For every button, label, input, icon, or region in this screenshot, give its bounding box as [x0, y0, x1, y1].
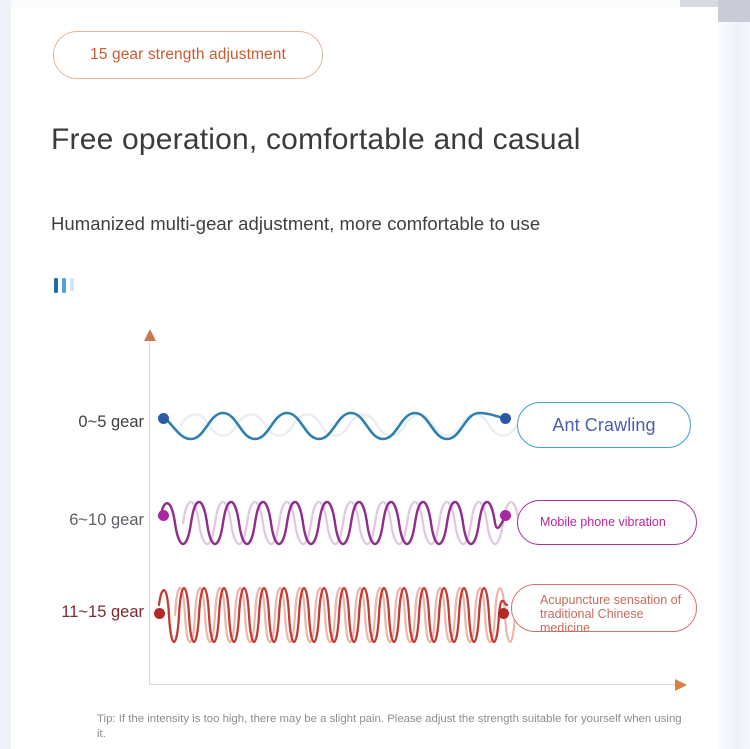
waveform-mid-gear	[157, 487, 517, 559]
chart-row-mid-gear: 6~10 gear Mobile phone vibration	[11, 487, 718, 559]
legend-bubble-mobile-vibration[interactable]: Mobile phone vibration	[517, 500, 697, 545]
tip-text: Tip: If the intensity is too high, there…	[97, 712, 685, 741]
waveform-low-gear-start-dot	[158, 413, 169, 424]
waveform-high-gear	[157, 572, 517, 658]
page-top-margin-band	[11, 0, 718, 7]
chart-row-high-gear: 11~15 gear Acupuncture sensation of trad…	[11, 572, 718, 658]
chart-row-low-gear: 0~5 gear Ant Crawling	[11, 394, 718, 456]
signal-bars-icon	[54, 278, 74, 293]
gear-strength-badge-label: 15 gear strength adjustment	[90, 46, 286, 64]
gear-strength-badge[interactable]: 15 gear strength adjustment	[53, 31, 323, 79]
page-left-margin-band	[0, 0, 11, 749]
waveform-mid-gear-end-dot	[500, 510, 511, 521]
legend-bubble-acupuncture-label: Acupuncture sensation of traditional Chi…	[540, 593, 696, 635]
waveform-mid-gear-start-dot	[158, 510, 169, 521]
waveform-low-gear	[157, 394, 517, 456]
row-label-high-gear: 11~15 gear	[61, 603, 144, 622]
page-right-margin-band	[718, 0, 750, 749]
slide-content: 15 gear strength adjustment Free operati…	[11, 7, 718, 749]
waveform-high-gear-end-dot	[498, 608, 509, 619]
page-title: Free operation, comfortable and casual	[51, 123, 581, 157]
row-label-mid-gear: 6~10 gear	[69, 511, 144, 530]
legend-bubble-mobile-vibration-label: Mobile phone vibration	[540, 516, 666, 530]
legend-bubble-ant-crawling[interactable]: Ant Crawling	[517, 402, 691, 448]
waveform-high-gear-start-dot	[154, 608, 165, 619]
page-top-right-notch-dark	[718, 0, 750, 22]
legend-bubble-acupuncture[interactable]: Acupuncture sensation of traditional Chi…	[511, 584, 697, 632]
y-axis-arrow-icon	[144, 329, 156, 341]
page-subtitle: Humanized multi-gear adjustment, more co…	[51, 213, 540, 235]
x-axis-line	[149, 684, 677, 685]
gear-intensity-chart: 0~5 gear Ant Crawling 6~10 gear	[11, 322, 718, 717]
signal-bar-2	[62, 278, 66, 293]
legend-bubble-ant-crawling-label: Ant Crawling	[552, 415, 655, 436]
signal-bar-3	[70, 278, 74, 291]
signal-bar-1	[54, 278, 58, 293]
row-label-low-gear: 0~5 gear	[78, 413, 144, 432]
waveform-low-gear-end-dot	[500, 413, 511, 424]
x-axis-arrow-icon	[675, 679, 687, 691]
